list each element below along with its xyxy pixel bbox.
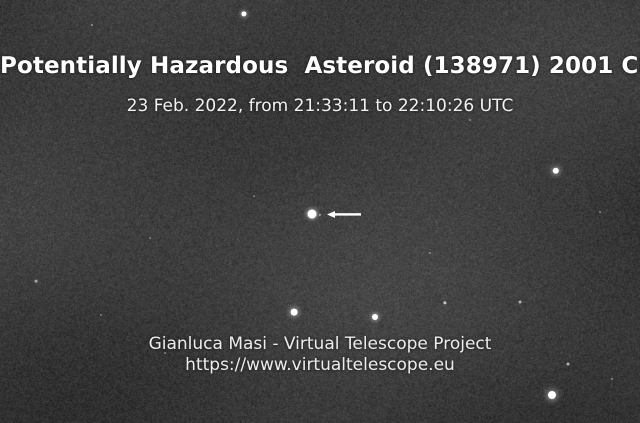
star: [149, 237, 151, 239]
star: [443, 301, 446, 304]
star: [548, 391, 556, 399]
credit-author: Gianluca Masi - Virtual Telescope Projec…: [0, 334, 640, 355]
star: [91, 24, 93, 26]
observation-time-subtitle: 23 Feb. 2022, from 21:33:11 to 22:10:26 …: [0, 96, 640, 116]
star: [429, 252, 431, 254]
star: [611, 378, 613, 380]
star: [519, 301, 522, 304]
star: [372, 314, 378, 320]
star: [35, 280, 38, 283]
star: [100, 314, 102, 316]
star: [291, 309, 298, 316]
astronomy-image-frame: Potentially Hazardous Asteroid (138971) …: [0, 0, 640, 423]
asteroid-point-source: [308, 210, 317, 219]
star: [469, 119, 471, 121]
credit-block: Gianluca Masi - Virtual Telescope Projec…: [0, 334, 640, 376]
credit-url[interactable]: https://www.virtualtelescope.eu: [0, 355, 640, 376]
page-title: Potentially Hazardous Asteroid (138971) …: [0, 53, 640, 79]
star: [253, 195, 255, 197]
arrow-pointer-icon: [327, 210, 361, 219]
star: [241, 11, 246, 16]
star: [553, 168, 559, 174]
star: [599, 211, 601, 213]
star: [319, 214, 321, 216]
